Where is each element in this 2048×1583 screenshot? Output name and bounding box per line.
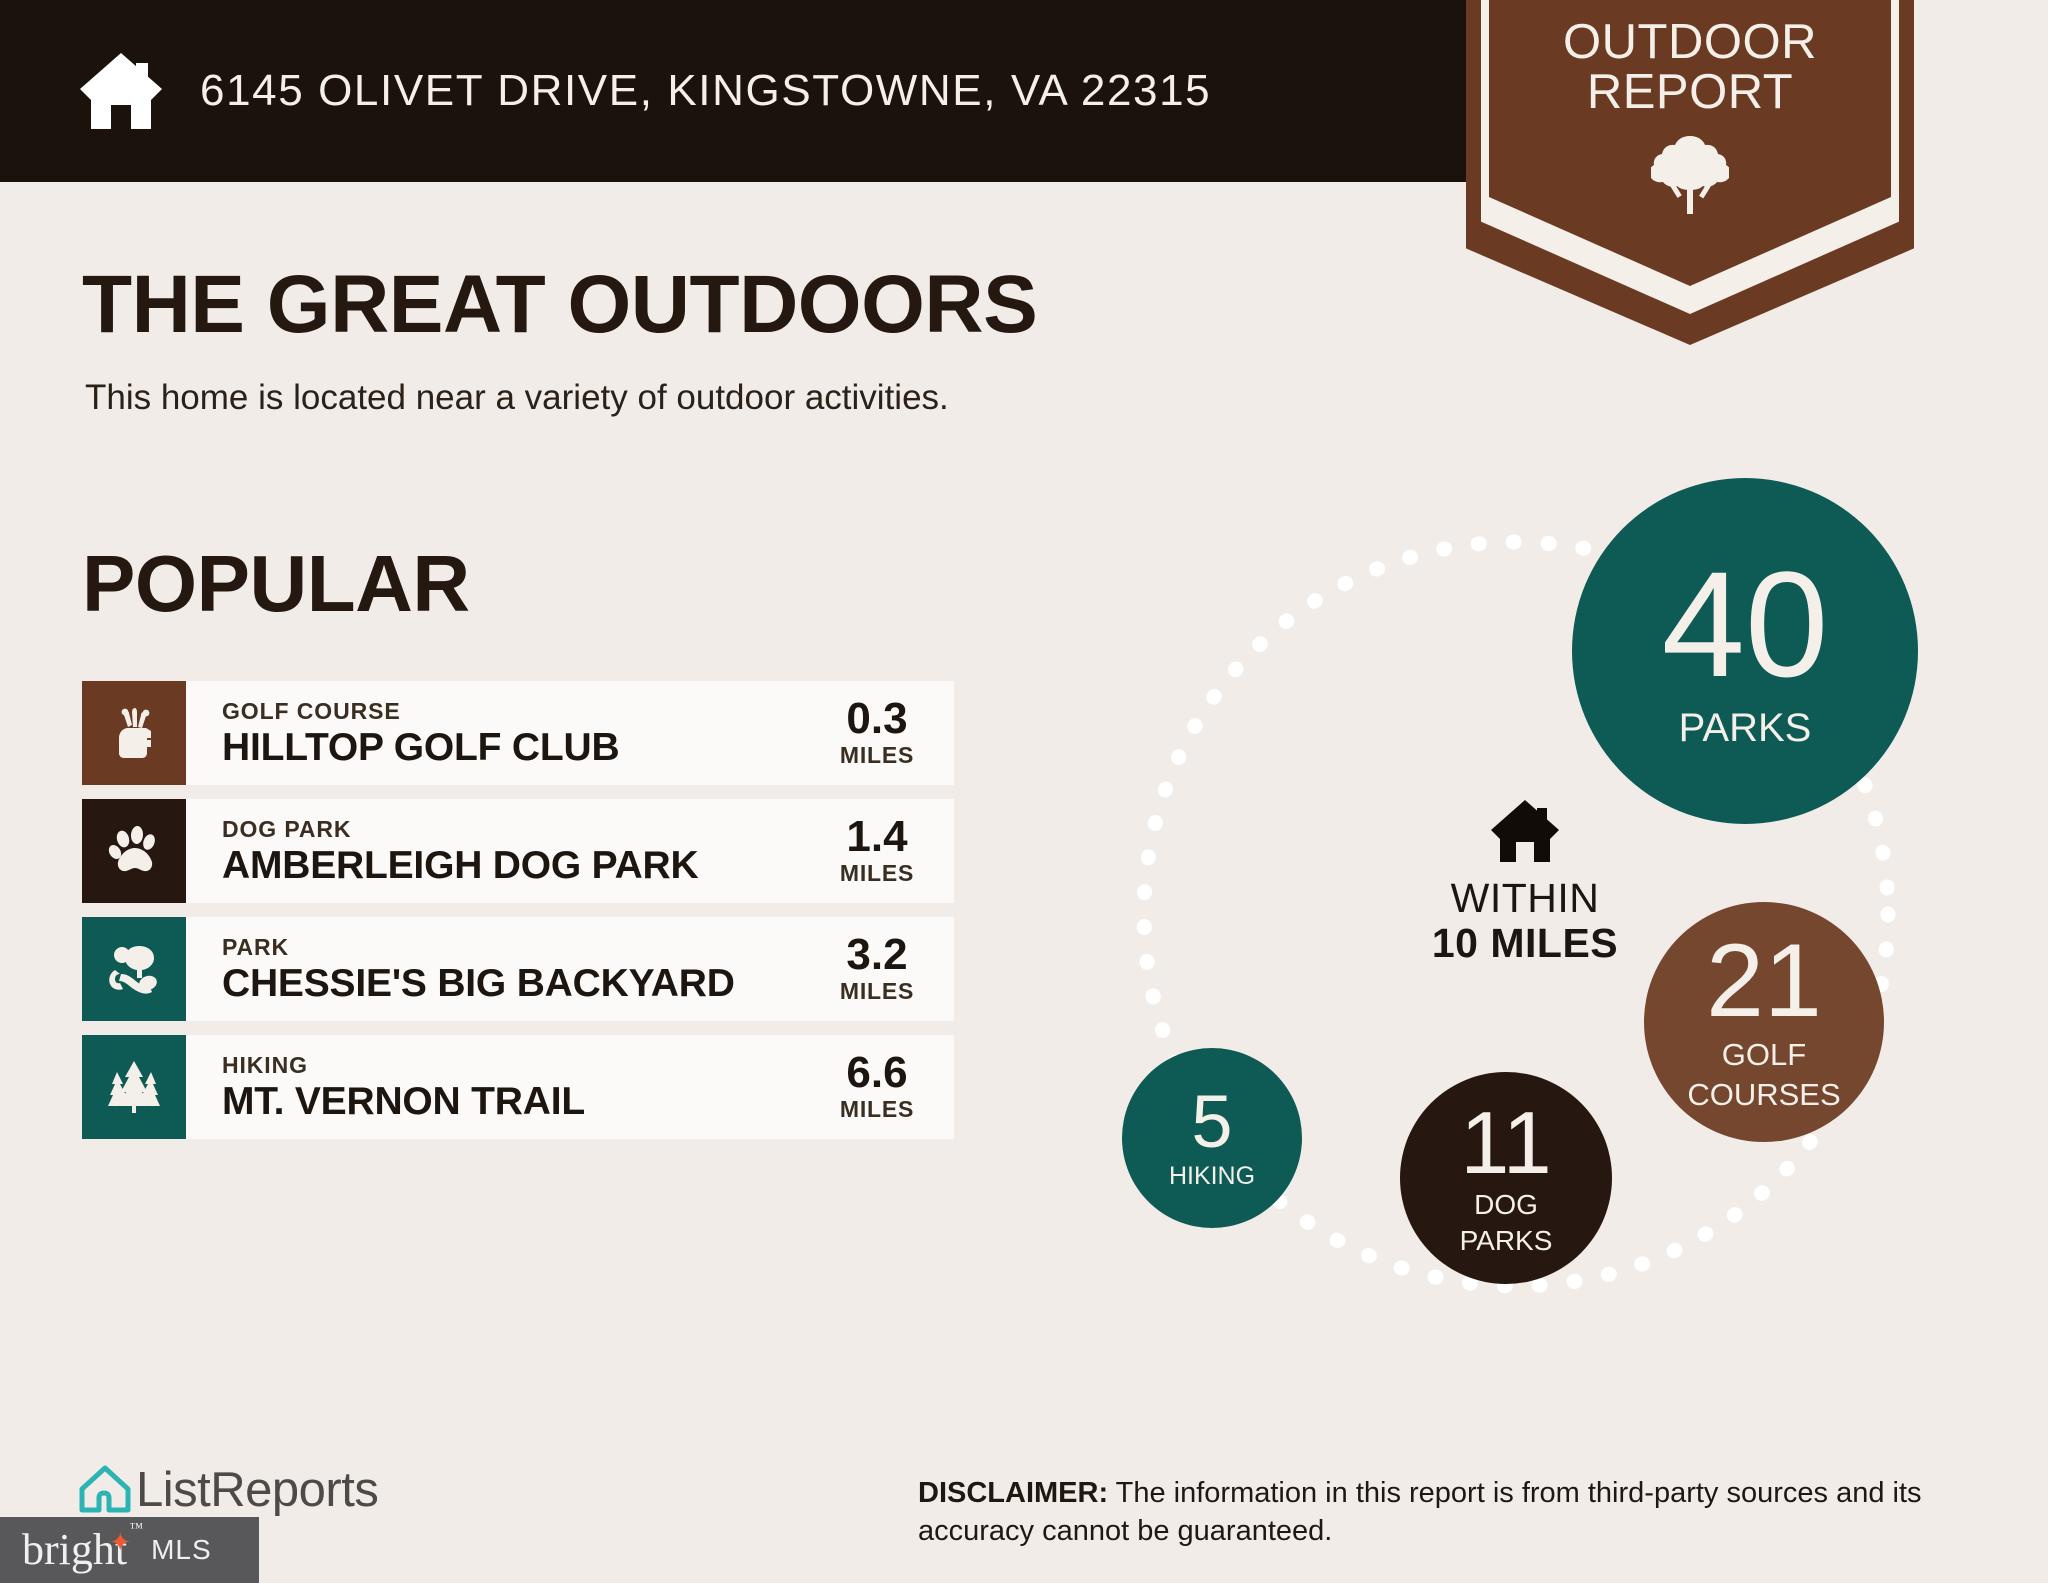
outdoor-report-badge: OUTDOOR REPORT <box>1466 0 1914 345</box>
bubble-parks[interactable]: 40 PARKS <box>1572 478 1918 824</box>
poi-distance-value: 6.6 <box>846 1051 907 1096</box>
paw-print-icon <box>82 799 186 903</box>
poi-category: GOLF COURSE <box>222 697 814 726</box>
park-trees-icon <box>82 917 186 1021</box>
disclaimer-label: DISCLAIMER: <box>918 1477 1108 1509</box>
poi-category: HIKING <box>222 1051 814 1080</box>
poi-name: HILLTOP GOLF CLUB <box>222 726 814 770</box>
bubble-dog-parks-value: 11 <box>1460 1101 1551 1185</box>
badge-core: OUTDOOR REPORT <box>1489 0 1891 286</box>
outdoor-report-page: 6145 OLIVET DRIVE, KINGSTOWNE, VA 22315 … <box>0 0 2048 1583</box>
poi-text: PARK CHESSIE'S BIG BACKYARD <box>186 917 814 1021</box>
bubble-golf-courses-label-line2: COURSES <box>1687 1079 1840 1112</box>
poi-distance-unit: MILES <box>840 860 914 888</box>
home-icon <box>1489 798 1561 864</box>
listreports-wordmark: ListReports <box>136 1462 378 1518</box>
poi-category: DOG PARK <box>222 815 814 844</box>
bright-mls-logo: bright ✦ ™ MLS <box>0 1517 259 1583</box>
popular-poi-list: GOLF COURSE HILLTOP GOLF CLUB 0.3 MILES … <box>82 681 954 1153</box>
bubble-golf-courses-label-line1: GOLF <box>1722 1039 1806 1072</box>
poi-distance-unit: MILES <box>840 742 914 770</box>
bubble-hiking-value: 5 <box>1191 1087 1232 1157</box>
house-outline-icon <box>78 1464 132 1516</box>
listreports-logo: ListReports <box>78 1462 378 1518</box>
poi-distance-unit: MILES <box>840 978 914 1006</box>
poi-name: CHESSIE'S BIG BACKYARD <box>222 962 814 1006</box>
poi-distance: 1.4 MILES <box>814 799 954 903</box>
property-address: 6145 OLIVET DRIVE, KINGSTOWNE, VA 22315 <box>200 66 1211 116</box>
poi-distance-value: 1.4 <box>846 815 907 860</box>
bubble-golf-courses[interactable]: 21 GOLF COURSES <box>1644 902 1884 1142</box>
bright-star-icon: ✦ <box>109 1530 131 1556</box>
poi-distance: 0.3 MILES <box>814 681 954 785</box>
bubble-dog-parks-label-line2: PARKS <box>1460 1226 1553 1255</box>
bubble-dog-parks[interactable]: 11 DOG PARKS <box>1400 1072 1612 1284</box>
poi-name: MT. VERNON TRAIL <box>222 1080 814 1124</box>
poi-name: AMBERLEIGH DOG PARK <box>222 844 814 888</box>
poi-distance-value: 3.2 <box>846 933 907 978</box>
badge-line-2: REPORT <box>1587 68 1793 118</box>
page-subtitle: This home is located near a variety of o… <box>85 378 949 418</box>
list-item[interactable]: GOLF COURSE HILLTOP GOLF CLUB 0.3 MILES <box>82 681 954 785</box>
poi-distance: 6.6 MILES <box>814 1035 954 1139</box>
bubble-golf-courses-value: 21 <box>1706 932 1822 1031</box>
bubble-hiking-label: HIKING <box>1169 1163 1255 1189</box>
amenities-bubble-diagram: 40 PARKS 21 GOLF COURSES 11 DOG PARKS 5 … <box>1078 478 2028 1378</box>
within-label-line1: WITHIN <box>1451 876 1600 921</box>
header-bar: 6145 OLIVET DRIVE, KINGSTOWNE, VA 22315 <box>0 0 1492 182</box>
within-label-line2: 10 MILES <box>1432 921 1618 966</box>
bright-mls-text: MLS <box>151 1534 212 1566</box>
bubble-parks-label: PARKS <box>1679 707 1812 749</box>
bubble-parks-value: 40 <box>1662 553 1829 696</box>
poi-text: DOG PARK AMBERLEIGH DOG PARK <box>186 799 814 903</box>
poi-distance-value: 0.3 <box>846 697 907 742</box>
disclaimer: DISCLAIMER: The information in this repo… <box>918 1474 1992 1551</box>
poi-text: GOLF COURSE HILLTOP GOLF CLUB <box>186 681 814 785</box>
poi-distance-unit: MILES <box>840 1096 914 1124</box>
pine-trees-icon <box>82 1035 186 1139</box>
badge-line-1: OUTDOOR <box>1563 18 1817 68</box>
tree-icon <box>1651 130 1729 214</box>
popular-heading: POPULAR <box>82 538 470 630</box>
badge-inner-border: OUTDOOR REPORT <box>1481 0 1899 314</box>
poi-distance: 3.2 MILES <box>814 917 954 1021</box>
bubble-dog-parks-label-line1: DOG <box>1474 1190 1538 1219</box>
home-icon <box>78 51 164 131</box>
list-item[interactable]: DOG PARK AMBERLEIGH DOG PARK 1.4 MILES <box>82 799 954 903</box>
list-item[interactable]: HIKING MT. VERNON TRAIL 6.6 MILES <box>82 1035 954 1139</box>
page-title: THE GREAT OUTDOORS <box>82 258 1037 352</box>
poi-category: PARK <box>222 933 814 962</box>
diagram-center: WITHIN 10 MILES <box>1370 798 1680 966</box>
golf-bag-icon <box>82 681 186 785</box>
list-item[interactable]: PARK CHESSIE'S BIG BACKYARD 3.2 MILES <box>82 917 954 1021</box>
bubble-hiking[interactable]: 5 HIKING <box>1122 1048 1302 1228</box>
bright-wordmark: bright ✦ ™ <box>22 1528 127 1572</box>
bright-trademark: ™ <box>129 1522 143 1536</box>
poi-text: HIKING MT. VERNON TRAIL <box>186 1035 814 1139</box>
